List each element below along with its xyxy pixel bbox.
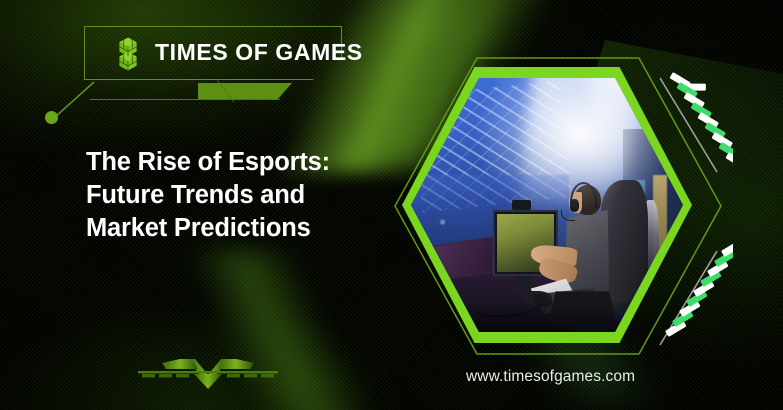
logo-accent-diagonal <box>217 80 344 102</box>
banner-root: TIMES OF GAMES The Rise of Esports: Futu… <box>0 0 783 410</box>
cube-icon <box>110 36 146 72</box>
page-title: The Rise of Esports: Future Trends and M… <box>86 146 356 245</box>
dash-ladder-top-icon <box>655 70 733 180</box>
dash-ladder-bottom-icon <box>655 243 733 353</box>
winged-w-emblem-icon <box>132 349 284 393</box>
brand-name: TIMES OF GAMES <box>155 39 363 66</box>
website-url: www.timesofgames.com <box>466 368 635 386</box>
connector-dot-icon <box>45 111 58 124</box>
